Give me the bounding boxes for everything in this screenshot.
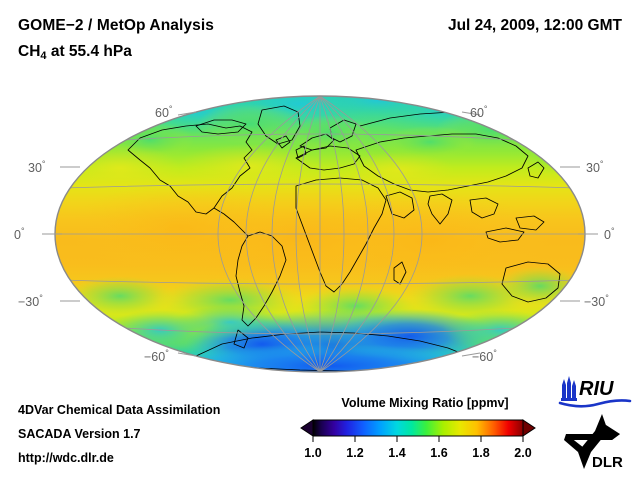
lat-label-left-30: 30° xyxy=(28,159,46,175)
colorbar-title: Volume Mixing Ratio [ppmv] xyxy=(300,396,550,410)
lat-label-right-60: 60° xyxy=(470,104,488,120)
degree-symbol: ° xyxy=(169,104,173,114)
lat-label-left-m30: −30° xyxy=(18,293,43,309)
colorbar-tick-6: 2.0 xyxy=(514,446,531,460)
degree-symbol: ° xyxy=(493,348,497,358)
data-field xyxy=(50,74,600,388)
colorbar-ticks xyxy=(313,436,523,442)
colorbar xyxy=(300,416,550,446)
degree-symbol: ° xyxy=(611,226,615,236)
lat-label-right-m60: −60° xyxy=(472,348,497,364)
colorbar-tick-5: 1.8 xyxy=(472,446,489,460)
riu-logo: RIU xyxy=(558,374,632,408)
colorbar-tick-1: 1.0 xyxy=(304,446,321,460)
colorbar-gradient xyxy=(313,420,523,436)
degree-symbol: ° xyxy=(39,293,43,303)
degree-symbol: ° xyxy=(165,348,169,358)
website-url[interactable]: http://wdc.dlr.de xyxy=(18,451,114,465)
degree-symbol: ° xyxy=(484,104,488,114)
lat-label-left-0: 0° xyxy=(14,226,25,242)
colorbar-tick-labels: 1.0 1.2 1.4 1.6 1.8 2.0 xyxy=(300,446,550,464)
colorbar-tick-4: 1.6 xyxy=(430,446,447,460)
dlr-wordmark: DLR xyxy=(592,454,623,470)
version-label: SACADA Version 1.7 xyxy=(18,427,141,441)
lat-label-right-m30: −30° xyxy=(584,293,609,309)
colorbar-block: Volume Mixing Ratio [ppmv] xyxy=(300,396,550,476)
colorbar-tick-2: 1.2 xyxy=(346,446,363,460)
degree-symbol: ° xyxy=(21,226,25,236)
map-container: 60° 30° 0° −30° −60° 60° 30° 0° −30° −60… xyxy=(0,0,640,400)
figure-canvas: GOME−2 / MetOp Analysis CH4 at 55.4 hPa … xyxy=(0,0,640,480)
riu-swoosh-icon xyxy=(560,400,630,406)
degree-symbol: ° xyxy=(600,159,604,169)
riu-wordmark: RIU xyxy=(579,378,614,400)
degree-symbol: ° xyxy=(42,159,46,169)
lat-label-left-60: 60° xyxy=(155,104,173,120)
lat-label-right-0: 0° xyxy=(604,226,615,242)
lat-label-right-30: 30° xyxy=(586,159,604,175)
degree-symbol: ° xyxy=(605,293,609,303)
colorbar-tick-3: 1.4 xyxy=(388,446,405,460)
colorbar-cap-low xyxy=(301,420,313,436)
lat-label-left-m60: −60° xyxy=(144,348,169,364)
riu-tower-icon xyxy=(561,376,577,401)
dlr-logo: DLR xyxy=(562,412,630,470)
mollweide-map xyxy=(0,0,640,400)
colorbar-cap-high xyxy=(523,420,535,436)
method-label: 4DVar Chemical Data Assimilation xyxy=(18,403,220,417)
